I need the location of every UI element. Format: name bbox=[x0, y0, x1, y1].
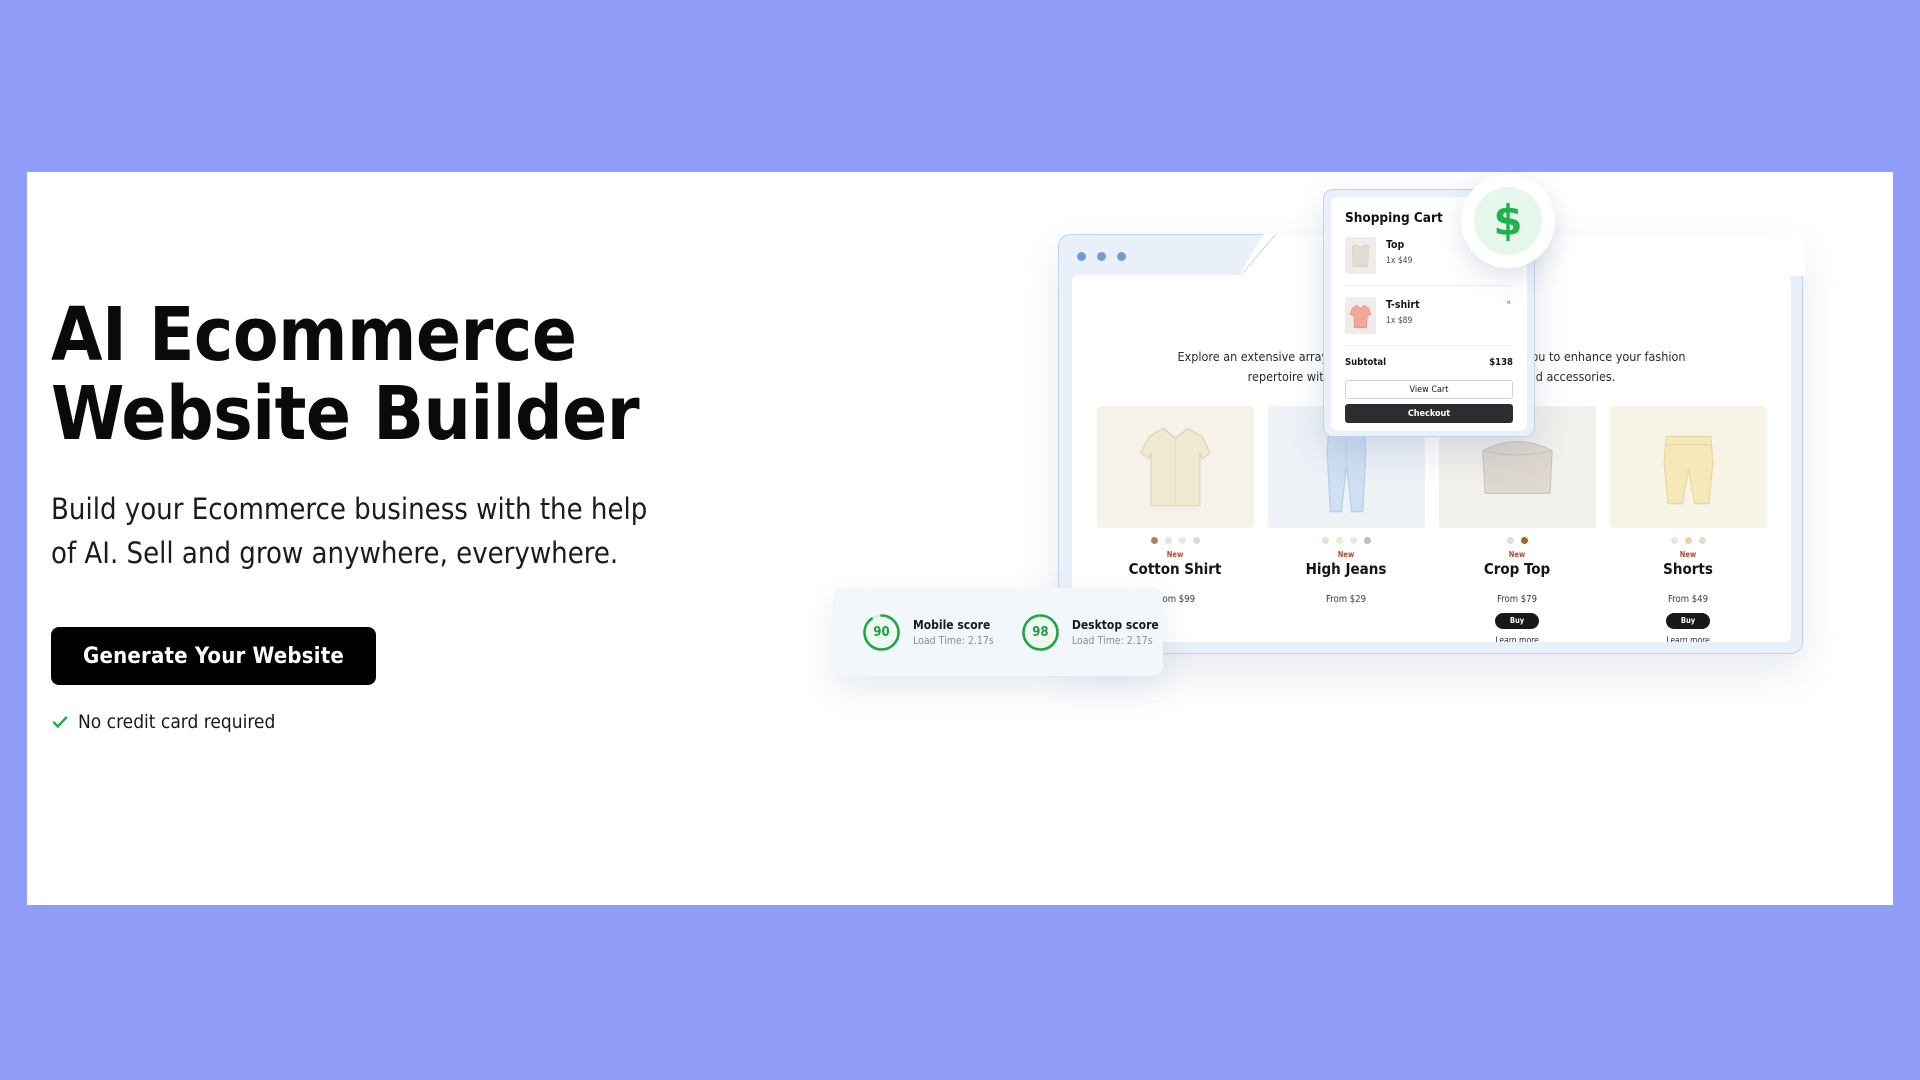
dollar-badge: $ bbox=[1461, 174, 1555, 268]
hero-subtitle: Build your Ecommerce business with the h… bbox=[51, 488, 811, 575]
buy-button[interactable]: Buy bbox=[1495, 613, 1539, 629]
color-swatch[interactable] bbox=[1364, 537, 1371, 544]
learn-more-link[interactable]: Learn more bbox=[1610, 636, 1767, 643]
score-ring: 98 bbox=[1020, 612, 1061, 653]
window-dot-maximize-icon[interactable] bbox=[1117, 252, 1126, 261]
cart-item-thumbnail bbox=[1345, 237, 1376, 274]
page-title: AI Ecommerce Website Builder bbox=[51, 296, 811, 454]
cart-item-name: Top bbox=[1386, 239, 1412, 251]
product-image bbox=[1097, 406, 1254, 528]
color-swatch[interactable] bbox=[1521, 537, 1528, 544]
no-credit-card-note: No credit card required bbox=[51, 711, 811, 733]
color-swatch[interactable] bbox=[1699, 537, 1706, 544]
product-color-swatches[interactable] bbox=[1268, 537, 1425, 544]
product-card[interactable]: NewShortsFrom $49BuyLearn more bbox=[1610, 406, 1767, 643]
hero-panel: AI Ecommerce Website Builder Build your … bbox=[27, 172, 1893, 905]
view-cart-button[interactable]: View Cart bbox=[1345, 380, 1513, 399]
product-color-swatches[interactable] bbox=[1097, 537, 1254, 544]
color-swatch[interactable] bbox=[1671, 537, 1678, 544]
product-price: From $29 bbox=[1268, 594, 1425, 605]
color-swatch[interactable] bbox=[1507, 537, 1514, 544]
cart-item-thumbnail bbox=[1345, 297, 1376, 334]
product-color-swatches[interactable] bbox=[1610, 537, 1767, 544]
score-load-time: Load Time: 2.17s bbox=[1072, 635, 1159, 647]
status-badge: New bbox=[1097, 550, 1254, 559]
cart-subtotal-row: Subtotal $138 bbox=[1345, 346, 1513, 380]
color-swatch[interactable] bbox=[1179, 537, 1186, 544]
checkout-button[interactable]: Checkout bbox=[1345, 404, 1513, 423]
product-card[interactable]: NewCrop TopFrom $79BuyLearn more bbox=[1439, 406, 1596, 643]
status-badge: New bbox=[1439, 550, 1596, 559]
score-value: 98 bbox=[1020, 612, 1061, 653]
product-price: From $79 bbox=[1439, 594, 1596, 605]
window-dot-minimize-icon[interactable] bbox=[1097, 252, 1106, 261]
score-value: 90 bbox=[861, 612, 902, 653]
score-label: Mobile score bbox=[913, 618, 994, 632]
generate-website-button[interactable]: Generate Your Website bbox=[51, 627, 376, 685]
cart-item-qty-price: 1x $89 bbox=[1386, 316, 1420, 326]
cart-item-row: T-shirt1x $89× bbox=[1345, 286, 1513, 346]
score-item: 90Mobile scoreLoad Time: 2.17s bbox=[861, 612, 994, 653]
status-badge: New bbox=[1268, 550, 1425, 559]
window-controls[interactable] bbox=[1077, 252, 1126, 261]
product-image bbox=[1610, 406, 1767, 528]
remove-item-close-icon[interactable]: × bbox=[1506, 298, 1511, 307]
product-color-swatches[interactable] bbox=[1439, 537, 1596, 544]
cart-subtotal-label: Subtotal bbox=[1345, 357, 1386, 368]
learn-more-link[interactable]: Learn more bbox=[1439, 636, 1596, 643]
performance-score-panel: 90Mobile scoreLoad Time: 2.17s98Desktop … bbox=[833, 588, 1163, 676]
hero-content: AI Ecommerce Website Builder Build your … bbox=[51, 296, 811, 733]
product-name: Cotton Shirt bbox=[1097, 560, 1254, 578]
window-dot-close-icon[interactable] bbox=[1077, 252, 1086, 261]
color-swatch[interactable] bbox=[1322, 537, 1329, 544]
score-label: Desktop score bbox=[1072, 618, 1159, 632]
color-swatch[interactable] bbox=[1336, 537, 1343, 544]
buy-button[interactable]: Buy bbox=[1666, 613, 1710, 629]
product-name: Shorts bbox=[1610, 560, 1767, 578]
score-item: 98Desktop scoreLoad Time: 2.17s bbox=[1020, 612, 1159, 653]
score-load-time: Load Time: 2.17s bbox=[913, 635, 994, 647]
check-icon bbox=[51, 713, 69, 731]
no-credit-card-label: No credit card required bbox=[78, 711, 275, 733]
score-ring: 90 bbox=[861, 612, 902, 653]
color-swatch[interactable] bbox=[1165, 537, 1172, 544]
color-swatch[interactable] bbox=[1685, 537, 1692, 544]
color-swatch[interactable] bbox=[1350, 537, 1357, 544]
product-name: High Jeans bbox=[1268, 560, 1425, 578]
color-swatch[interactable] bbox=[1151, 537, 1158, 544]
cart-subtotal-value: $138 bbox=[1489, 357, 1513, 368]
product-card[interactable]: NewHigh JeansFrom $29 bbox=[1268, 406, 1425, 643]
cart-item-name: T-shirt bbox=[1386, 299, 1420, 311]
color-swatch[interactable] bbox=[1193, 537, 1200, 544]
dollar-icon: $ bbox=[1474, 187, 1542, 255]
product-price: From $49 bbox=[1610, 594, 1767, 605]
product-mockup: All Products Explore an extensive array … bbox=[833, 172, 1893, 905]
cart-item-qty-price: 1x $49 bbox=[1386, 256, 1412, 266]
product-name: Crop Top bbox=[1439, 560, 1596, 578]
product-grid: NewCotton ShirtFrom $99NewHigh JeansFrom… bbox=[1097, 406, 1767, 643]
status-badge: New bbox=[1610, 550, 1767, 559]
